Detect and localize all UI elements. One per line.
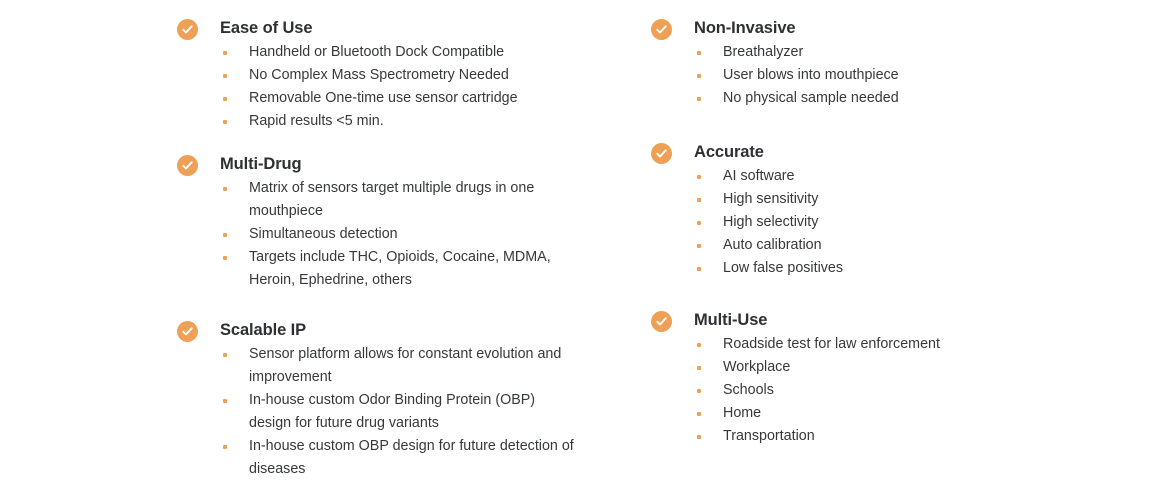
feature-bullet-item: Home bbox=[694, 402, 973, 425]
feature-title: Multi-Drug bbox=[220, 154, 647, 174]
feature-body: Ease of UseHandheld or Bluetooth Dock Co… bbox=[220, 18, 647, 133]
feature-bullet-text: In-house custom Odor Binding Protein (OB… bbox=[249, 392, 535, 431]
bullet-dot-icon bbox=[223, 97, 227, 101]
feature-bullet-text: High selectivity bbox=[723, 214, 818, 230]
feature-bullet-text: Workplace bbox=[723, 359, 790, 375]
left-column: Ease of UseHandheld or Bluetooth Dock Co… bbox=[177, 0, 647, 501]
feature-bullet-text: High sensitivity bbox=[723, 191, 818, 207]
feature-bullet-text: No Complex Mass Spectrometry Needed bbox=[249, 67, 509, 83]
feature-title: Multi-Use bbox=[694, 310, 1071, 330]
feature-bullet-text: Home bbox=[723, 405, 761, 421]
feature-bullet-list: Sensor platform allows for constant evol… bbox=[220, 343, 647, 481]
feature-block: Multi-UseRoadside test for law enforceme… bbox=[651, 310, 1071, 448]
bullet-dot-icon bbox=[223, 399, 227, 403]
feature-bullet-item: User blows into mouthpiece bbox=[694, 64, 1023, 87]
feature-bullet-item: High sensitivity bbox=[694, 188, 1023, 211]
feature-bullet-text: Breathalyzer bbox=[723, 44, 803, 60]
bullet-dot-icon bbox=[697, 389, 701, 393]
bullet-dot-icon bbox=[697, 198, 701, 202]
feature-bullet-item: High selectivity bbox=[694, 211, 1023, 234]
feature-block: Non-InvasiveBreathalyzerUser blows into … bbox=[651, 18, 1071, 110]
feature-title: Ease of Use bbox=[220, 18, 647, 38]
bullet-dot-icon bbox=[697, 221, 701, 225]
feature-bullet-item: In-house custom Odor Binding Protein (OB… bbox=[220, 389, 579, 435]
feature-body: Non-InvasiveBreathalyzerUser blows into … bbox=[694, 18, 1071, 110]
feature-columns: Ease of UseHandheld or Bluetooth Dock Co… bbox=[0, 0, 1159, 501]
check-circle-icon bbox=[177, 155, 198, 176]
feature-bullet-item: Roadside test for law enforcement bbox=[694, 333, 973, 356]
feature-bullet-text: Targets include THC, Opioids, Cocaine, M… bbox=[249, 249, 551, 288]
bullet-dot-icon bbox=[697, 175, 701, 179]
feature-bullet-text: Simultaneous detection bbox=[249, 226, 398, 242]
feature-bullet-text: Auto calibration bbox=[723, 237, 822, 253]
feature-bullet-item: Sensor platform allows for constant evol… bbox=[220, 343, 579, 389]
feature-bullet-text: Matrix of sensors target multiple drugs … bbox=[249, 180, 534, 219]
feature-bullet-item: In-house custom OBP design for future de… bbox=[220, 435, 579, 481]
check-circle-icon bbox=[651, 143, 672, 164]
feature-body: Multi-DrugMatrix of sensors target multi… bbox=[220, 154, 647, 292]
feature-bullet-item: Targets include THC, Opioids, Cocaine, M… bbox=[220, 246, 579, 292]
feature-bullet-item: Removable One-time use sensor cartridge bbox=[220, 87, 579, 110]
feature-bullet-text: User blows into mouthpiece bbox=[723, 67, 899, 83]
feature-bullet-text: Transportation bbox=[723, 428, 815, 444]
feature-bullet-list: BreathalyzerUser blows into mouthpieceNo… bbox=[694, 41, 1071, 110]
feature-highlights-slide: Ease of UseHandheld or Bluetooth Dock Co… bbox=[0, 0, 1159, 501]
feature-bullet-text: Handheld or Bluetooth Dock Compatible bbox=[249, 44, 504, 60]
bullet-dot-icon bbox=[223, 74, 227, 78]
feature-body: AccurateAI softwareHigh sensitivityHigh … bbox=[694, 142, 1071, 280]
bullet-dot-icon bbox=[697, 412, 701, 416]
feature-body: Multi-UseRoadside test for law enforceme… bbox=[694, 310, 1071, 448]
feature-bullet-item: Schools bbox=[694, 379, 973, 402]
check-circle-icon bbox=[177, 19, 198, 40]
feature-bullet-item: No Complex Mass Spectrometry Needed bbox=[220, 64, 579, 87]
feature-block: Scalable IPSensor platform allows for co… bbox=[177, 320, 647, 481]
feature-bullet-item: AI software bbox=[694, 165, 1023, 188]
bullet-dot-icon bbox=[697, 267, 701, 271]
feature-bullet-list: Roadside test for law enforcementWorkpla… bbox=[694, 333, 1071, 448]
feature-bullet-list: AI softwareHigh sensitivityHigh selectiv… bbox=[694, 165, 1071, 280]
bullet-dot-icon bbox=[223, 353, 227, 357]
feature-bullet-text: AI software bbox=[723, 168, 795, 184]
bullet-dot-icon bbox=[697, 97, 701, 101]
feature-bullet-item: Low false positives bbox=[694, 257, 1023, 280]
feature-bullet-item: Workplace bbox=[694, 356, 973, 379]
feature-title: Accurate bbox=[694, 142, 1071, 162]
bullet-dot-icon bbox=[223, 120, 227, 124]
bullet-dot-icon bbox=[697, 51, 701, 55]
bullet-dot-icon bbox=[697, 435, 701, 439]
feature-body: Scalable IPSensor platform allows for co… bbox=[220, 320, 647, 481]
bullet-dot-icon bbox=[223, 233, 227, 237]
feature-bullet-item: Breathalyzer bbox=[694, 41, 1023, 64]
feature-bullet-item: Rapid results <5 min. bbox=[220, 110, 579, 133]
feature-bullet-item: Simultaneous detection bbox=[220, 223, 579, 246]
feature-title: Scalable IP bbox=[220, 320, 647, 340]
bullet-dot-icon bbox=[223, 256, 227, 260]
feature-block: Ease of UseHandheld or Bluetooth Dock Co… bbox=[177, 18, 647, 133]
bullet-dot-icon bbox=[697, 244, 701, 248]
bullet-dot-icon bbox=[223, 51, 227, 55]
check-circle-icon bbox=[651, 19, 672, 40]
feature-bullet-list: Handheld or Bluetooth Dock CompatibleNo … bbox=[220, 41, 647, 133]
bullet-dot-icon bbox=[697, 366, 701, 370]
feature-bullet-text: Low false positives bbox=[723, 260, 843, 276]
feature-title: Non-Invasive bbox=[694, 18, 1071, 38]
bullet-dot-icon bbox=[697, 74, 701, 78]
right-column: Non-InvasiveBreathalyzerUser blows into … bbox=[651, 0, 1071, 501]
check-circle-icon bbox=[651, 311, 672, 332]
feature-bullet-text: Rapid results <5 min. bbox=[249, 113, 384, 129]
feature-bullet-text: Sensor platform allows for constant evol… bbox=[249, 346, 561, 385]
feature-bullet-text: Removable One-time use sensor cartridge bbox=[249, 90, 518, 106]
bullet-dot-icon bbox=[697, 343, 701, 347]
feature-block: Multi-DrugMatrix of sensors target multi… bbox=[177, 154, 647, 292]
feature-bullet-text: Roadside test for law enforcement bbox=[723, 336, 940, 352]
feature-bullet-text: In-house custom OBP design for future de… bbox=[249, 438, 574, 477]
check-circle-icon bbox=[177, 321, 198, 342]
feature-bullet-item: Auto calibration bbox=[694, 234, 1023, 257]
feature-bullet-item: Transportation bbox=[694, 425, 973, 448]
feature-block: AccurateAI softwareHigh sensitivityHigh … bbox=[651, 142, 1071, 280]
feature-bullet-list: Matrix of sensors target multiple drugs … bbox=[220, 177, 647, 292]
bullet-dot-icon bbox=[223, 187, 227, 191]
feature-bullet-item: Matrix of sensors target multiple drugs … bbox=[220, 177, 579, 223]
feature-bullet-text: Schools bbox=[723, 382, 774, 398]
feature-bullet-item: No physical sample needed bbox=[694, 87, 1023, 110]
feature-bullet-item: Handheld or Bluetooth Dock Compatible bbox=[220, 41, 579, 64]
bullet-dot-icon bbox=[223, 445, 227, 449]
feature-bullet-text: No physical sample needed bbox=[723, 90, 899, 106]
